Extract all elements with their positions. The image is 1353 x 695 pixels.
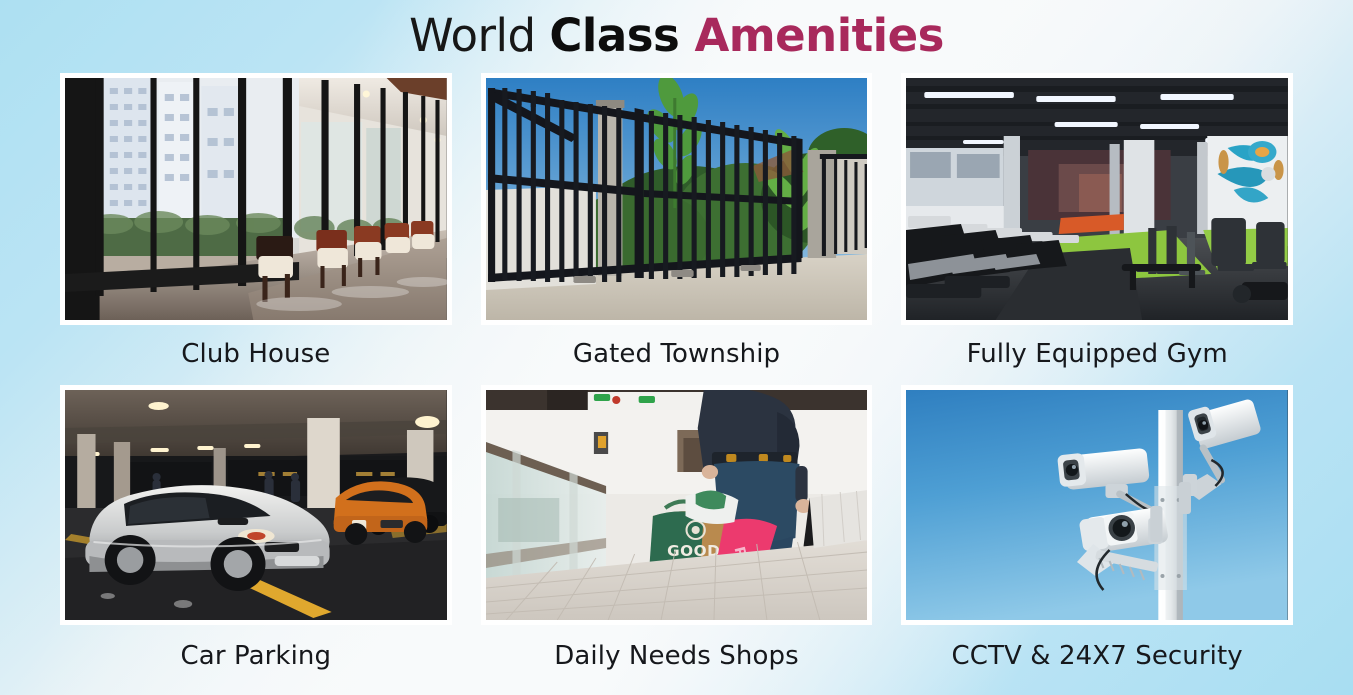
amenity-card-car-parking[interactable]: Car Parking [60, 385, 452, 687]
club-house-photo [65, 78, 447, 320]
amenity-card-cctv-security[interactable]: CCTV & 24X7 Security [901, 385, 1293, 687]
daily-needs-shops-frame: GOOD THINGS INSIDE PINK [481, 385, 873, 625]
amenity-caption-cctv-security: CCTV & 24X7 Security [901, 625, 1293, 687]
car-parking-frame [60, 385, 452, 625]
amenity-card-fully-equipped-gym[interactable]: Fully Equipped Gym [901, 73, 1293, 385]
cctv-security-photo [906, 390, 1288, 620]
page-title-part-class: Class [549, 9, 694, 62]
amenity-card-gated-township[interactable]: Gated Township [481, 73, 873, 385]
cctv-security-frame [901, 385, 1293, 625]
fully-equipped-gym-frame [901, 73, 1293, 325]
page-title-part-world: World [409, 9, 549, 62]
amenities-grid: Club House [60, 73, 1293, 687]
amenity-caption-club-house: Club House [60, 325, 452, 385]
amenity-caption-car-parking: Car Parking [60, 625, 452, 687]
amenity-caption-fully-equipped-gym: Fully Equipped Gym [901, 325, 1293, 385]
amenity-card-daily-needs-shops[interactable]: GOOD THINGS INSIDE PINK [481, 385, 873, 687]
amenity-caption-gated-township: Gated Township [481, 325, 873, 385]
amenity-card-club-house[interactable]: Club House [60, 73, 452, 385]
page-title: World Class Amenities [0, 0, 1353, 67]
daily-needs-shops-photo: GOOD THINGS INSIDE PINK [486, 390, 868, 620]
gated-township-photo [486, 78, 868, 320]
club-house-frame [60, 73, 452, 325]
amenity-caption-daily-needs-shops: Daily Needs Shops [481, 625, 873, 687]
fully-equipped-gym-photo [906, 78, 1288, 320]
gated-township-frame [481, 73, 873, 325]
amenities-section: World Class Amenities [0, 0, 1353, 695]
page-title-part-amenities: Amenities [694, 9, 943, 62]
car-parking-photo [65, 390, 447, 620]
